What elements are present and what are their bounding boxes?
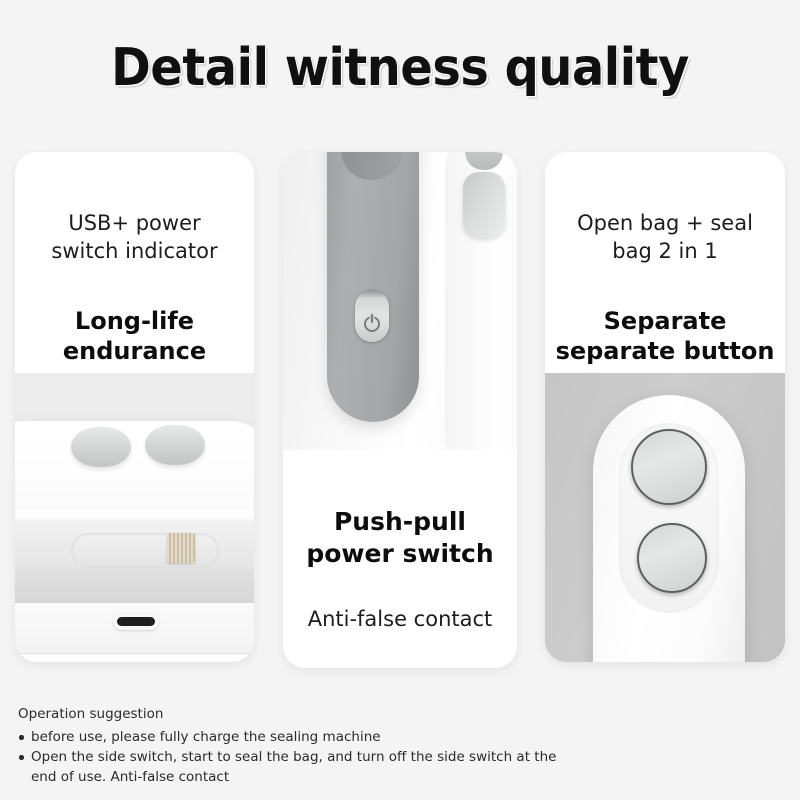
- usb-c-port-icon: [113, 613, 159, 630]
- operation-suggestion-block: Operation suggestion before use, please …: [18, 704, 578, 788]
- caption-line: power switch: [293, 538, 507, 570]
- footer-bullet-list: before use, please fully charge the seal…: [18, 728, 578, 786]
- caption-line: bag 2 in 1: [555, 238, 775, 266]
- product-photo-push-pull-switch: [283, 152, 517, 450]
- gray-button-cap-right: [145, 425, 205, 465]
- product-photo-separate-buttons: [545, 373, 785, 662]
- heating-strip: [167, 533, 195, 563]
- caption-line: Open bag + seal: [555, 210, 775, 238]
- footer-bullet-item: Open the side switch, start to seal the …: [18, 748, 578, 786]
- round-button-seal: [631, 429, 707, 505]
- page-title: Detail witness quality: [32, 38, 768, 98]
- card-caption-bold: Push-pull power switch: [293, 506, 507, 570]
- device-top-face: [15, 455, 254, 509]
- caption-line: Long-life: [25, 306, 244, 337]
- caption-line: endurance: [25, 336, 244, 367]
- card-caption-light: USB+ power switch indicator: [25, 210, 244, 265]
- slider-slot: [71, 533, 219, 568]
- side-release-tab: [463, 172, 505, 238]
- footer-bullet-item: before use, please fully charge the seal…: [18, 728, 578, 747]
- switch-track: [327, 152, 419, 422]
- feature-card-separate-button[interactable]: Open bag + seal bag 2 in 1 Separate sepa…: [545, 152, 785, 662]
- product-photo-usb-power: [15, 373, 254, 662]
- card-caption-block: Push-pull power switch Anti-false contac…: [283, 450, 517, 668]
- device-gray-band: [15, 569, 254, 607]
- caption-line: Separate: [555, 306, 775, 337]
- card-caption-light: Anti-false contact: [293, 606, 507, 634]
- switch-track-groove: [341, 152, 403, 180]
- feature-card-usb-power[interactable]: USB+ power switch indicator Long-life en…: [15, 152, 254, 662]
- caption-line: Push-pull: [293, 506, 507, 538]
- caption-line: switch indicator: [25, 238, 244, 266]
- card-caption-block: USB+ power switch indicator Long-life en…: [15, 152, 254, 373]
- caption-line: USB+ power: [25, 210, 244, 238]
- caption-line: separate button: [555, 336, 775, 367]
- card-caption-block: Open bag + seal bag 2 in 1 Separate sepa…: [545, 152, 785, 373]
- round-button-cut: [637, 523, 707, 593]
- feature-card-push-pull-switch[interactable]: Push-pull power switch Anti-false contac…: [283, 152, 517, 668]
- feature-cards-row: USB+ power switch indicator Long-life en…: [0, 152, 800, 672]
- card-caption-bold: Long-life endurance: [25, 306, 244, 367]
- gray-button-cap-left: [71, 427, 131, 467]
- card-caption-bold: Separate separate button: [555, 306, 775, 367]
- caption-line: Anti-false contact: [293, 606, 507, 634]
- power-icon: [364, 316, 380, 332]
- card-caption-light: Open bag + seal bag 2 in 1: [555, 210, 775, 265]
- power-switch-handle: [355, 290, 389, 342]
- footer-title: Operation suggestion: [18, 704, 578, 724]
